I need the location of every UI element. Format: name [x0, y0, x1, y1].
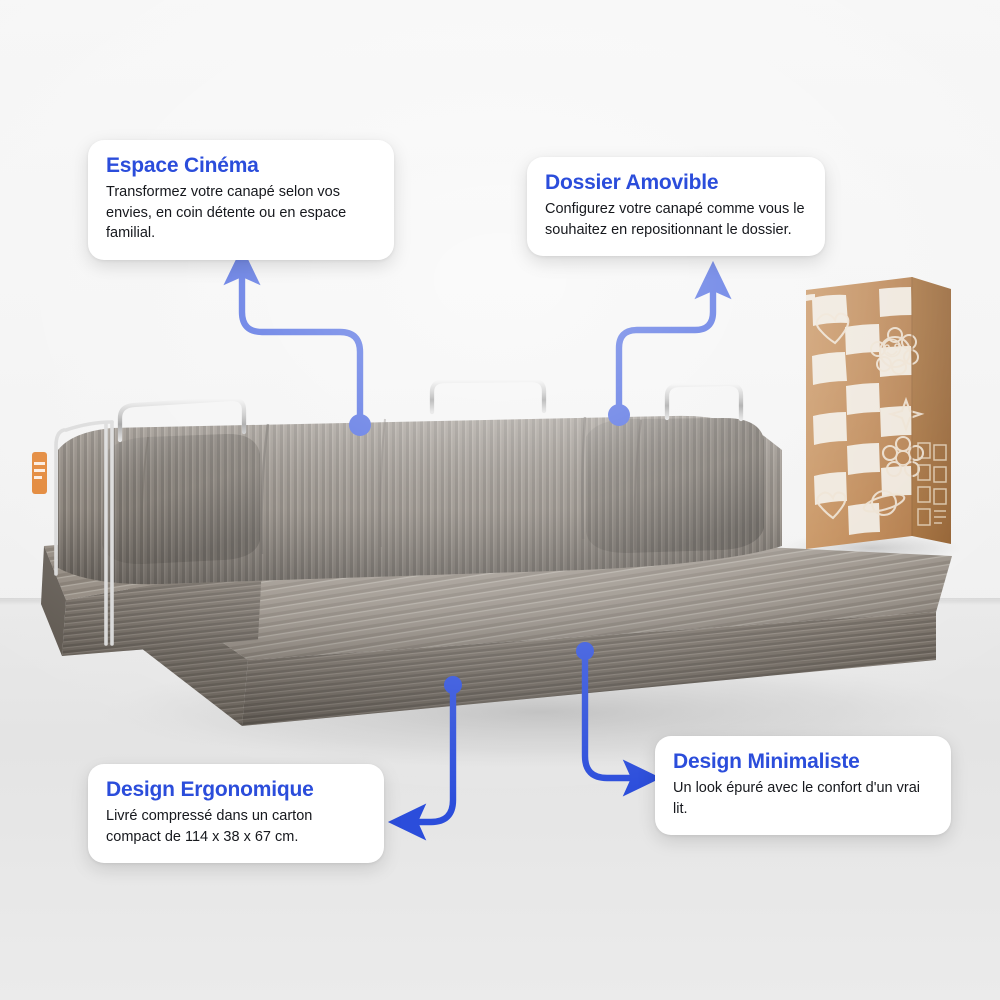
callout-title: Dossier Amovible [545, 171, 807, 194]
infographic-canvas: Espace Cinéma Transformez votre canapé s… [0, 0, 1000, 1000]
callout-card-espace-cinema[interactable]: Espace Cinéma Transformez votre canapé s… [88, 140, 394, 260]
callout-card-dossier-amovible[interactable]: Dossier Amovible Configurez votre canapé… [527, 157, 825, 256]
callout-body: Un look épuré avec le confort d'un vrai … [673, 778, 933, 819]
callout-card-design-minimaliste[interactable]: Design Minimaliste Un look épuré avec le… [655, 736, 951, 835]
callout-title: Design Ergonomique [106, 778, 366, 801]
callout-card-design-ergonomique[interactable]: Design Ergonomique Livré compressé dans … [88, 764, 384, 863]
callout-body: Transformez votre canapé selon vos envie… [106, 182, 376, 244]
callout-body: Configurez votre canapé comme vous le so… [545, 199, 807, 240]
callout-title: Design Minimaliste [673, 750, 933, 773]
callout-body: Livré compressé dans un carton compact d… [106, 806, 366, 847]
callout-title: Espace Cinéma [106, 154, 376, 177]
